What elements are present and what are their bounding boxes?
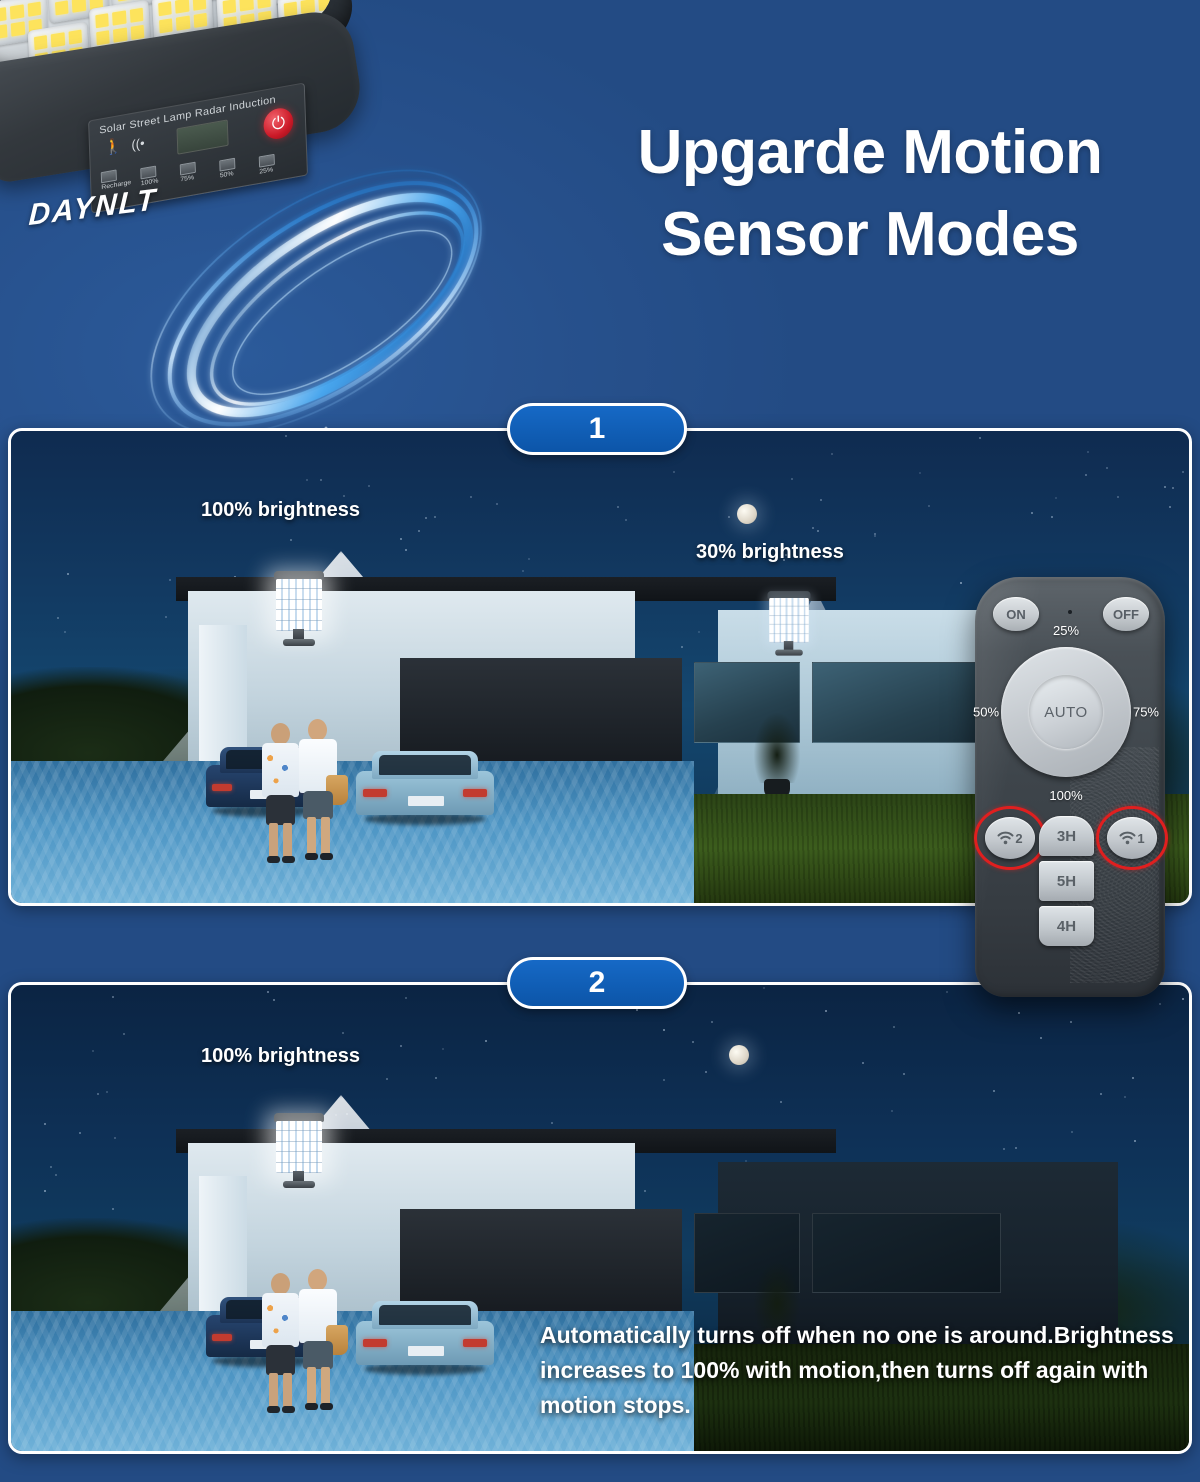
star bbox=[496, 503, 498, 505]
power-icon[interactable] bbox=[263, 106, 294, 141]
star bbox=[169, 579, 171, 581]
person-left bbox=[259, 1273, 301, 1413]
star bbox=[1159, 1003, 1161, 1005]
potted-tree bbox=[754, 713, 800, 799]
star bbox=[681, 646, 683, 648]
star bbox=[979, 437, 981, 439]
star bbox=[64, 631, 66, 633]
led-chip bbox=[118, 0, 132, 1]
brightness-dial[interactable]: 25% 75% 100% 50% AUTO bbox=[1001, 647, 1131, 777]
product-lamp-image: Solar Street Lamp Radar Induction 🚶 ((• … bbox=[0, 0, 390, 316]
led-chip bbox=[95, 13, 109, 28]
lamp-indicator: 50% bbox=[219, 158, 235, 180]
led-chip bbox=[34, 35, 48, 50]
led-chip bbox=[113, 28, 127, 43]
led-chip bbox=[223, 0, 237, 14]
star bbox=[1003, 1148, 1005, 1150]
star bbox=[1134, 1140, 1136, 1142]
led-chip bbox=[68, 30, 82, 45]
led-chip bbox=[158, 1, 172, 16]
star bbox=[342, 1032, 344, 1034]
star bbox=[112, 996, 114, 998]
remote-off-button[interactable]: OFF bbox=[1103, 597, 1149, 631]
star bbox=[435, 1077, 437, 1079]
star bbox=[1124, 1096, 1126, 1098]
caption-brightness-right: 30% brightness bbox=[696, 541, 844, 564]
star bbox=[1182, 998, 1184, 1000]
star bbox=[1172, 487, 1174, 489]
led-chip bbox=[176, 16, 190, 31]
indicator-label: 25% bbox=[259, 166, 275, 175]
headline-line-2: Sensor Modes bbox=[560, 194, 1180, 276]
star bbox=[434, 516, 436, 518]
star bbox=[123, 1033, 125, 1035]
star bbox=[903, 1073, 905, 1075]
led-chip bbox=[55, 0, 69, 15]
star bbox=[820, 499, 822, 501]
lamp-display-screen bbox=[177, 119, 229, 154]
headline-line-1: Upgarde Motion bbox=[560, 112, 1180, 194]
timer-3h-button[interactable]: 3H bbox=[1039, 816, 1094, 856]
star bbox=[67, 573, 69, 575]
ir-emitter-icon bbox=[1068, 610, 1072, 614]
star bbox=[1164, 486, 1166, 488]
star bbox=[44, 1190, 46, 1192]
auto-button[interactable]: AUTO bbox=[1029, 675, 1103, 749]
house-window bbox=[812, 1213, 1000, 1292]
led-chip bbox=[10, 4, 24, 19]
star bbox=[1015, 1147, 1017, 1149]
star bbox=[400, 538, 402, 540]
star bbox=[928, 505, 930, 507]
star bbox=[106, 1091, 108, 1093]
star bbox=[728, 516, 730, 518]
car-light-blue bbox=[356, 1297, 494, 1371]
dial-label-25[interactable]: 25% bbox=[1053, 623, 1079, 638]
led-chip bbox=[192, 0, 206, 11]
star bbox=[993, 1090, 995, 1092]
star bbox=[485, 1040, 487, 1042]
remote-on-button[interactable]: ON bbox=[993, 597, 1039, 631]
led-chip bbox=[72, 0, 86, 13]
star bbox=[625, 519, 627, 521]
star bbox=[44, 1123, 46, 1125]
star bbox=[825, 1010, 827, 1012]
star bbox=[442, 1048, 444, 1050]
led-chip bbox=[51, 32, 65, 47]
led-chip bbox=[112, 10, 126, 25]
led-chip bbox=[193, 13, 207, 28]
dial-label-100[interactable]: 100% bbox=[1049, 788, 1082, 803]
caption-brightness-left: 100% brightness bbox=[201, 499, 360, 522]
street-lamp-bright bbox=[273, 1113, 325, 1187]
star bbox=[663, 1029, 665, 1031]
star bbox=[79, 1132, 81, 1134]
star bbox=[55, 1174, 57, 1176]
timer-5h-button[interactable]: 5H bbox=[1039, 861, 1094, 901]
star bbox=[343, 495, 345, 497]
caption-brightness-left: 100% brightness bbox=[201, 1045, 360, 1068]
star bbox=[522, 570, 524, 572]
star bbox=[425, 517, 427, 519]
star bbox=[692, 1041, 694, 1043]
dial-label-50[interactable]: 50% bbox=[973, 705, 999, 720]
star bbox=[92, 1050, 94, 1052]
star bbox=[663, 1079, 665, 1081]
star bbox=[470, 496, 472, 498]
star bbox=[673, 471, 675, 473]
timer-4h-button[interactable]: 4H bbox=[1039, 906, 1094, 946]
person-right bbox=[296, 1269, 340, 1411]
led-chip bbox=[257, 0, 271, 9]
star bbox=[273, 999, 275, 1001]
highlight-ring-sensor-1 bbox=[1096, 806, 1168, 870]
house-window bbox=[812, 662, 1000, 742]
remote-control: ON OFF 25% 75% 100% 50% AUTO 2 1 bbox=[975, 577, 1165, 997]
star bbox=[1100, 1093, 1102, 1095]
led-chip bbox=[130, 8, 144, 23]
star bbox=[636, 1009, 638, 1011]
infographic-stage: Solar Street Lamp Radar Induction 🚶 ((• … bbox=[0, 0, 1200, 1482]
paved-driveway bbox=[11, 761, 694, 903]
led-chip bbox=[96, 30, 110, 45]
star bbox=[306, 479, 308, 481]
star bbox=[112, 1208, 114, 1210]
led-chip bbox=[0, 7, 7, 22]
led-chip bbox=[27, 2, 41, 17]
highlight-ring-sensor-2 bbox=[974, 806, 1046, 870]
page-title: Upgarde Motion Sensor Modes bbox=[560, 112, 1180, 277]
led-chip bbox=[11, 21, 25, 36]
star bbox=[551, 1122, 553, 1124]
star bbox=[919, 472, 921, 474]
star bbox=[165, 616, 167, 618]
walking-person-icon: 🚶 bbox=[104, 138, 123, 156]
star bbox=[791, 478, 793, 480]
star bbox=[1051, 516, 1053, 518]
star bbox=[644, 1190, 646, 1192]
star bbox=[960, 582, 962, 584]
step-badge-2: 2 bbox=[507, 957, 687, 1009]
star bbox=[946, 991, 948, 993]
moon-icon bbox=[737, 504, 757, 524]
led-chip bbox=[175, 0, 189, 14]
star bbox=[1087, 451, 1089, 453]
star bbox=[114, 1137, 116, 1139]
star bbox=[1182, 471, 1184, 473]
star bbox=[698, 631, 700, 633]
star bbox=[320, 479, 322, 481]
star bbox=[1055, 497, 1057, 499]
led-chip bbox=[240, 0, 254, 11]
star bbox=[817, 530, 819, 532]
star bbox=[57, 617, 59, 619]
lamp-indicator: 25% bbox=[259, 154, 275, 176]
person-right bbox=[296, 719, 340, 861]
moon-icon bbox=[729, 1045, 749, 1065]
star bbox=[418, 530, 420, 532]
dial-label-75[interactable]: 75% bbox=[1133, 705, 1159, 720]
star bbox=[1132, 1077, 1134, 1079]
star bbox=[1040, 1037, 1042, 1039]
star bbox=[386, 1078, 388, 1080]
star bbox=[1117, 496, 1119, 498]
star bbox=[400, 1045, 402, 1047]
star bbox=[1071, 1131, 1073, 1133]
star bbox=[711, 1021, 713, 1023]
star bbox=[891, 1110, 893, 1112]
star bbox=[831, 453, 833, 455]
step-badge-1: 1 bbox=[507, 403, 687, 455]
star bbox=[1018, 1012, 1020, 1014]
star bbox=[528, 558, 530, 560]
star bbox=[862, 1062, 864, 1064]
star bbox=[1070, 1021, 1072, 1023]
star bbox=[1169, 506, 1171, 508]
star bbox=[874, 535, 876, 537]
star bbox=[50, 1166, 52, 1168]
street-lamp-bright bbox=[273, 571, 325, 645]
star bbox=[705, 1071, 707, 1073]
led-chip bbox=[159, 18, 173, 33]
star bbox=[97, 1093, 99, 1095]
star bbox=[285, 435, 287, 437]
star bbox=[1106, 467, 1108, 469]
star bbox=[267, 991, 269, 993]
star bbox=[405, 549, 407, 551]
star bbox=[1085, 474, 1087, 476]
indicator-label: 50% bbox=[220, 170, 236, 179]
star bbox=[763, 987, 765, 989]
star bbox=[405, 997, 407, 999]
car-light-blue bbox=[356, 747, 494, 821]
star bbox=[812, 527, 814, 529]
star bbox=[290, 539, 292, 541]
description-text: Automatically turns off when no one is a… bbox=[540, 1318, 1190, 1423]
star bbox=[1031, 512, 1033, 514]
led-chip bbox=[318, 0, 332, 11]
star bbox=[617, 506, 619, 508]
star bbox=[893, 1026, 895, 1028]
led-chip bbox=[0, 24, 8, 39]
star bbox=[780, 1101, 782, 1103]
led-chip bbox=[130, 25, 144, 40]
star bbox=[368, 485, 370, 487]
street-lamp-dim bbox=[767, 591, 812, 655]
person-left bbox=[259, 723, 301, 863]
radar-wave-icon: ((• bbox=[131, 136, 144, 151]
